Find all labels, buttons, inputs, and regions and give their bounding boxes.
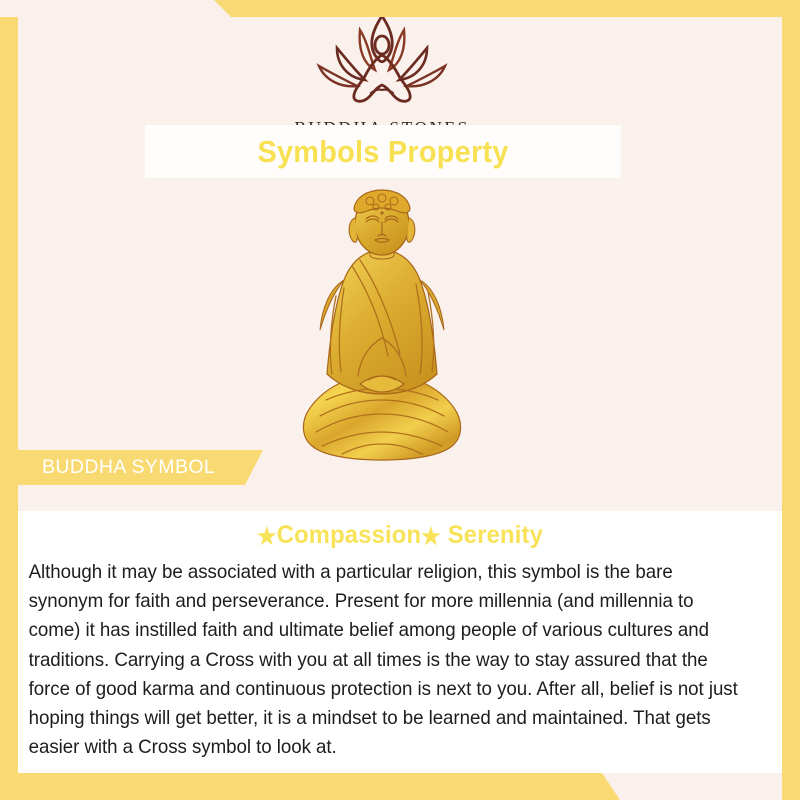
subheading-word-serenity: Serenity bbox=[448, 521, 543, 549]
subheading-word-compassion: Compassion bbox=[277, 521, 421, 549]
left-yellow-bar bbox=[0, 17, 18, 800]
right-yellow-bar bbox=[782, 0, 800, 800]
bottom-yellow-bar bbox=[0, 773, 620, 800]
title-band: Symbols Property bbox=[145, 125, 621, 178]
seated-golden-buddha-illustration bbox=[282, 188, 482, 478]
buddha-symbol-tag-label: BUDDHA SYMBOL bbox=[18, 456, 215, 479]
content-body-text: Although it may be associated with a par… bbox=[18, 550, 755, 762]
brand-logo: BUDDHA STONES bbox=[0, 8, 764, 138]
lotus-meditation-figure-icon bbox=[0, 8, 764, 118]
promo-banner: BUDDHA STONES Symbols Property bbox=[0, 0, 800, 800]
content-panel: ★Compassion★ Serenity Although it may be… bbox=[18, 511, 782, 773]
star-icon-1: ★ bbox=[257, 523, 277, 549]
star-icon-2: ★ bbox=[421, 523, 441, 549]
buddha-symbol-tag: BUDDHA SYMBOL bbox=[18, 450, 263, 485]
page-title: Symbols Property bbox=[257, 134, 508, 170]
content-subheading: ★Compassion★ Serenity bbox=[37, 511, 763, 550]
